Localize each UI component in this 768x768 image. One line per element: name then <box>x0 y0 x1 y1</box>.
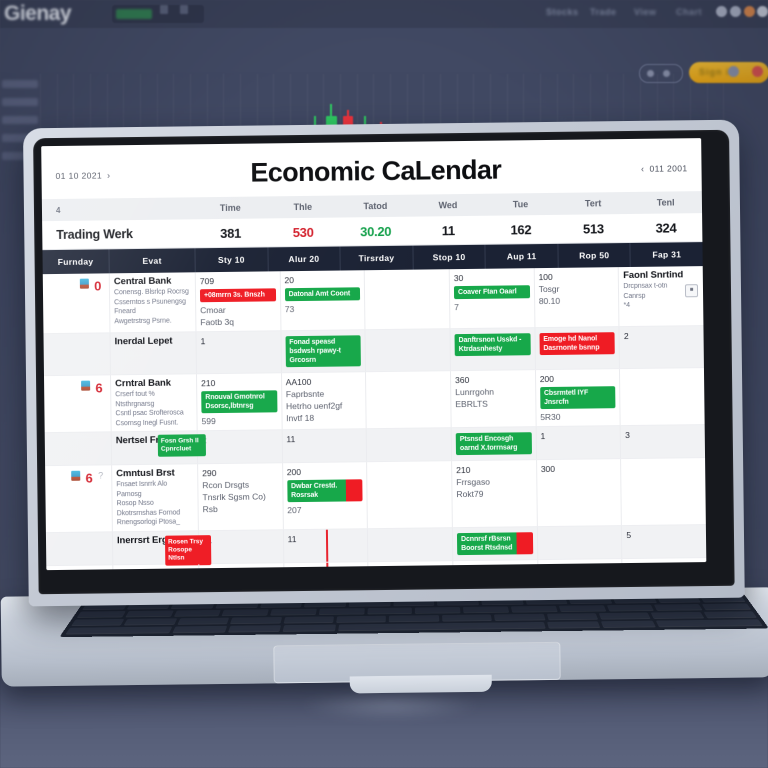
cell-value: 2 <box>202 433 278 446</box>
cell-subvalue: Invtf 18 <box>286 411 362 424</box>
cell-subvalue: Rokt79 <box>456 487 532 500</box>
summary-col-1: Thle <box>266 202 339 213</box>
event-detail-line: Crserf tout % Ntsthrgnarsg <box>115 389 192 409</box>
data-cell[interactable]: Rosen Trsy Rosope Ntlsn11 <box>198 530 283 563</box>
cell-subvalue: Tosgr <box>539 282 615 295</box>
column-header-4[interactable]: Tirsrday <box>340 246 413 271</box>
summary-value-3: 11 <box>412 222 485 238</box>
cell-value: 200 <box>287 465 363 478</box>
status-badge[interactable]: Dcnnrsf rBsrsn Boorst Rtsdnsd <box>457 532 533 555</box>
cell-subvalue: Rcon Drsgts <box>202 478 278 491</box>
data-cell[interactable]: 200Cbsrmtetl IYF Jnsrcfn5R30 <box>535 369 620 426</box>
data-cell[interactable]: 30Coaver Ftan Oaarl7 <box>449 268 534 328</box>
chevron-right-icon: › <box>107 170 111 180</box>
data-cell[interactable] <box>620 458 705 525</box>
overflow-badge-left[interactable]: Fosn Grsh II Cpnrcluet <box>158 434 206 457</box>
impact-value: 6 <box>85 471 92 486</box>
impact-cell <box>46 532 112 565</box>
summary-header-label: 4 <box>42 204 194 215</box>
cell-value: 2 <box>624 329 700 342</box>
cell-value: 210 <box>201 376 277 389</box>
event-cell[interactable]: Cmntusl BrstFnsaet Isnrrk Alo PamosgRoso… <box>111 464 198 531</box>
status-badge[interactable]: Danftrsnon Usskd - Ktrdasnhesty <box>455 333 531 356</box>
table-row[interactable]: 6?Cmntusl BrstFnsaet Isnrrk Alo PamosgRo… <box>45 458 706 533</box>
data-cell[interactable]: Emoge hd Nanol Dasrnonte bsnnp <box>534 327 619 369</box>
cell-value: 360 <box>455 373 531 386</box>
page-title: Economic CaLendar <box>250 155 501 189</box>
cell-subvalue: 80.10 <box>539 294 615 307</box>
cell-subvalue: 73 <box>285 302 361 315</box>
chevron-left-icon: ‹ <box>641 163 645 173</box>
event-detail-line: Csornsg Inegl Fusnt. <box>116 418 193 428</box>
table-row[interactable]: 6Crntral BankCrserf tout % NtsthrgnarsgC… <box>44 368 705 433</box>
summary-col-5: Tert <box>557 198 630 209</box>
event-detail-line: Conensg. Blsrlcp Rocrsg <box>114 287 191 297</box>
cell-value: 1 <box>201 334 277 347</box>
data-cell[interactable]: 2 <box>619 326 704 368</box>
cell-subvalue: 207 <box>287 503 363 516</box>
data-cell[interactable] <box>366 461 451 528</box>
summary-col-3: Wed <box>412 200 485 211</box>
data-cell[interactable] <box>619 368 704 425</box>
impact-cell: 12 <box>46 565 113 570</box>
cell-subvalue: Cmoar <box>200 303 276 316</box>
impact-cell: 0 <box>43 273 110 333</box>
status-badge[interactable]: Dwbar Crestd. Rosrsak <box>287 479 363 502</box>
column-header-5[interactable]: Stop 10 <box>412 245 485 270</box>
impact-cell: 6 <box>44 375 111 432</box>
impact-cell <box>43 333 109 375</box>
desk-reflection <box>300 690 480 720</box>
event-detail-line: Rnengsorlogi Ptosa_ <box>117 517 194 527</box>
event-cell[interactable]: Inerdal Lepet <box>109 332 195 374</box>
data-cell[interactable]: 11 <box>281 429 366 462</box>
cell-subvalue: 5R30 <box>540 410 616 423</box>
data-cell[interactable]: 290Rcon DrsgtsTnsrlk Sgsm Co)Rsb <box>197 463 282 530</box>
laptop-notch <box>350 675 492 694</box>
data-cell[interactable]: 300 <box>536 459 621 526</box>
event-detail-line: Rosop Nsso Dkotrsrnshas Fornod <box>117 498 194 518</box>
summary-value-2: 30.20 <box>339 223 412 239</box>
prev-period-nav[interactable]: 01 10 2021 › <box>55 170 110 181</box>
data-cell[interactable]: Fonad speasd bsdwsh rpawy-t Grcosrn <box>280 330 365 372</box>
column-header-8[interactable]: Fap 31 <box>630 242 703 267</box>
cell-subvalue: Frrsgaso <box>456 475 532 488</box>
laptop: 01 10 2021 › Economic CaLendar ‹ 011 200… <box>23 120 745 629</box>
summary-col-6: Tenl <box>629 197 702 208</box>
data-cell[interactable]: 20Datonal Amt Coont73 <box>279 270 364 330</box>
status-badge[interactable]: Cbsrmtetl IYF Jnsrcfn <box>540 386 616 409</box>
data-cell[interactable] <box>366 428 451 461</box>
cell-heading: Faonl Snrtind <box>623 269 699 282</box>
status-badge[interactable]: Fonad speasd bsdwsh rpawy-t Grcosrn <box>285 335 361 367</box>
data-cell[interactable] <box>367 528 452 561</box>
cell-value: 709 <box>200 274 276 287</box>
data-cell[interactable]: 360LunrrgohnEBRLTS <box>450 370 535 427</box>
cell-value: 20 <box>284 273 360 286</box>
cell-subline: *4 <box>623 300 699 310</box>
event-title: Central Bank <box>114 275 191 288</box>
summary-value-0: 381 <box>194 225 267 241</box>
cell-subvalue: Hetrho uenf2gf <box>286 399 362 412</box>
cell-subvalue: Rsb <box>203 502 279 515</box>
data-cell[interactable]: AA100FaprbsnteHetrho uenf2gfInvtf 18 <box>281 372 366 429</box>
data-cell[interactable] <box>364 269 449 329</box>
impact-cell <box>45 432 111 465</box>
country-flag-icon <box>80 279 89 289</box>
status-badge[interactable]: Ptsnsd Encosgh oarnd X.torrnsarg <box>456 432 532 455</box>
data-cell[interactable] <box>537 526 622 559</box>
event-detail-line: Csntl psac Srofterosca <box>115 408 192 418</box>
status-badge[interactable]: Coaver Ftan Oaarl <box>454 285 530 299</box>
summary-col-0: Time <box>194 202 267 213</box>
summary-value-1: 530 <box>267 224 340 240</box>
data-cell[interactable]: 100Tosgr80.10 <box>533 267 618 327</box>
cell-value: 3 <box>625 428 701 441</box>
column-header-3[interactable]: Alur 20 <box>267 247 340 272</box>
laptop-lid: 01 10 2021 › Economic CaLendar ‹ 011 200… <box>23 120 745 607</box>
summary-value-4: 162 <box>484 221 557 237</box>
data-cell[interactable]: Faonl SnrtindDrcpnsax t-otnCanrsp*4■ <box>618 266 703 326</box>
data-cell[interactable]: Danftrsnon Usskd - Ktrdasnhesty <box>449 328 534 370</box>
overflow-badge-left-red[interactable]: Rosen Trsy Rosope Ntlsn <box>165 535 211 566</box>
table-row[interactable]: 0Central BankConensg. Blsrlcp RocrsgCsse… <box>43 266 704 334</box>
column-header-1[interactable]: Evat <box>108 248 194 273</box>
status-badge[interactable]: Datonal Amt Coont <box>285 287 361 301</box>
cell-subvalue: 599 <box>201 414 277 427</box>
scene: Sign in Gienay Stocks Trade View Chart <box>0 0 768 768</box>
cell-subvalue: Lunrrgohn <box>455 385 531 398</box>
table-body: 0Central BankConensg. Blsrlcp RocrsgCsse… <box>43 266 707 570</box>
cell-subvalue: 7 <box>454 300 530 313</box>
data-cell[interactable]: 1 <box>195 331 280 373</box>
event-detail-line: Awgetrstrsg Psrne. <box>114 316 191 326</box>
summary-col-2: Tatod <box>339 201 412 212</box>
cell-value: AA100 <box>286 375 362 388</box>
impact-value: 0 <box>94 278 101 293</box>
cell-value: 1 <box>540 429 616 442</box>
impact-cell: 6? <box>45 465 112 531</box>
summary-row-label: Trading Werk <box>42 226 194 242</box>
summary-value-5: 513 <box>557 220 630 236</box>
impact-tick: ? <box>98 470 103 480</box>
cell-value: 210 <box>456 463 532 476</box>
cell-value: 11 <box>203 533 279 546</box>
data-cell[interactable] <box>365 371 450 428</box>
data-cell[interactable] <box>365 329 450 371</box>
event-detail-line: Fnsaet Isnrrk Alo Pamosg <box>116 479 193 499</box>
cell-value: 30 <box>454 271 530 284</box>
screen: 01 10 2021 › Economic CaLendar ‹ 011 200… <box>41 138 706 570</box>
event-title: Cmntusl Brst <box>116 467 193 480</box>
cell-value: 300 <box>541 462 617 475</box>
event-cell[interactable]: Central BankConensg. Blsrlcp RocrsgCsser… <box>109 272 196 332</box>
country-flag-icon <box>81 381 90 391</box>
prev-period-label: 01 10 2021 <box>55 170 102 181</box>
column-header-0[interactable]: Furnday <box>42 249 108 274</box>
impact-value: 6 <box>95 380 102 395</box>
current-time-marker <box>325 529 327 561</box>
data-cell[interactable]: Fosn Grsh II Cpnrcluet2 <box>197 430 282 463</box>
cell-value: 100 <box>538 270 614 283</box>
cell-subvalue: EBRLTS <box>455 397 531 410</box>
cell-subvalue: Tnsrlk Sgsm Co) <box>202 490 278 503</box>
summary-col-4: Tue <box>484 199 557 210</box>
next-period-nav[interactable]: ‹ 011 2001 <box>641 163 688 174</box>
data-cell[interactable]: 210FrrsgasoRokt79 <box>451 460 536 527</box>
event-cell[interactable]: Crntral BankCrserf tout % NtsthrgnarsgCs… <box>110 374 197 431</box>
event-title: Inerdal Lepet <box>115 335 192 348</box>
data-cell[interactable]: 3 <box>620 425 705 458</box>
column-header-2[interactable]: Sty 10 <box>194 247 267 272</box>
column-header-6[interactable]: Aup 11 <box>485 244 558 269</box>
status-badge[interactable]: Emoge hd Nanol Dasrnonte bsnnp <box>539 332 615 355</box>
next-period-label: 011 2001 <box>649 163 687 173</box>
page-header: 01 10 2021 › Economic CaLendar ‹ 011 200… <box>41 138 702 199</box>
data-cell[interactable]: 210Rnouval Gmotnrol Dsorsc,lbtnrsg599 <box>196 373 281 430</box>
economic-calendar-page: 01 10 2021 › Economic CaLendar ‹ 011 200… <box>41 138 706 570</box>
column-header-7[interactable]: Rop 50 <box>557 243 630 268</box>
data-cell[interactable]: Dcnnrsf rBsrsn Boorst Rtsdnsd <box>452 527 537 560</box>
event-detail-line: Csserntos s Psunengsg Fneard <box>114 297 191 317</box>
data-cell[interactable]: 11 <box>283 529 368 562</box>
cell-value: 11 <box>286 432 362 445</box>
cell-value: 200 <box>540 372 616 385</box>
status-badge[interactable]: Rnouval Gmotnrol Dsorsc,lbtnrsg <box>201 390 277 413</box>
summary-value-6: 324 <box>630 220 703 236</box>
cell-subvalue: Faotb 3q <box>200 315 276 328</box>
status-badge[interactable]: +08mrrn 3s. Bnszh <box>200 288 276 302</box>
cell-value: 5 <box>626 528 702 541</box>
cell-value: 290 <box>202 466 278 479</box>
data-cell[interactable]: 1 <box>535 426 620 459</box>
event-title: Crntral Bank <box>115 377 192 390</box>
data-cell[interactable]: 709+08mrrn 3s. BnszhCmoarFaotb 3q <box>195 271 280 331</box>
expand-detail-button[interactable]: ■ <box>685 284 698 297</box>
data-cell[interactable]: 200Dwbar Crestd. Rosrsak207 <box>282 462 367 529</box>
cell-subvalue: Faprbsnte <box>286 387 362 400</box>
data-cell[interactable]: 5 <box>621 525 706 558</box>
country-flag-icon <box>71 471 80 481</box>
data-cell[interactable]: Ptsnsd Encosgh oarnd X.torrnsarg <box>451 427 536 460</box>
